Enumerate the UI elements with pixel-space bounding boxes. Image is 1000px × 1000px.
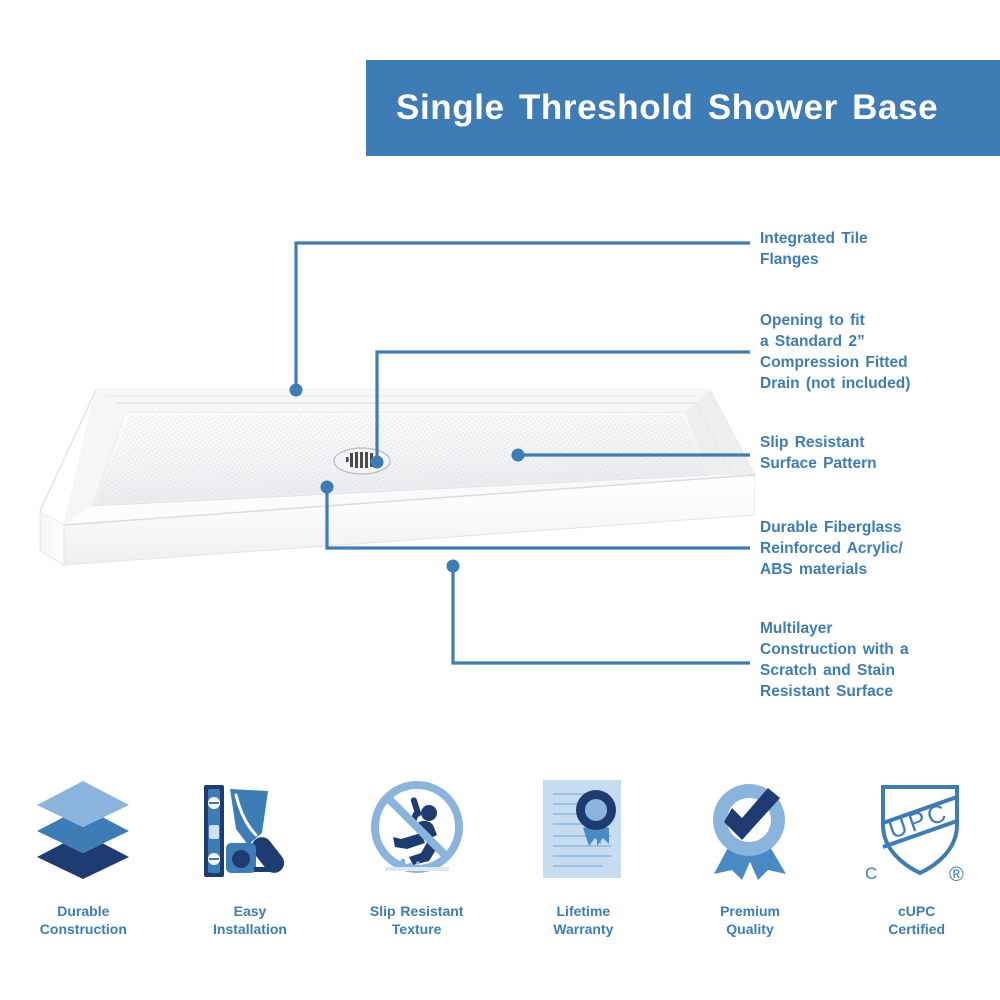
shower-base-svg [10, 365, 755, 595]
feature-label-premium-quality: Premium Quality [720, 902, 780, 938]
feature-durable-construction: Durable Construction [0, 770, 167, 970]
feature-slip-resistant-texture: Slip Resistant Texture [333, 770, 500, 970]
feature-badges-row: Durable Construction [0, 770, 1000, 970]
tile-flange-back-wall [96, 390, 710, 412]
tape-measure-spool [232, 850, 250, 868]
stacked-layers-icon [31, 770, 135, 888]
callout-integrated-tile-flanges: Integrated Tile Flanges [760, 228, 868, 270]
feature-cupc-certified: UPC C ® cUPC Certified [833, 770, 1000, 970]
shield-prefix-c: C [865, 864, 877, 883]
feature-label-slip-resistant-texture: Slip Resistant Texture [370, 902, 464, 938]
callout-multilayer-construction: Multilayer Construction with a Scratch a… [760, 618, 909, 702]
wet-floor-line [385, 867, 449, 871]
shield-letters: UPC [885, 798, 953, 845]
level-vial-bottom-line [209, 858, 219, 860]
feature-premium-quality: Premium Quality [667, 770, 834, 970]
seal-inner [585, 799, 607, 821]
page-title: Single Threshold Shower Base [396, 88, 938, 128]
no-slip-icon [363, 770, 471, 888]
feature-label-easy-installation: Easy Installation [213, 902, 287, 938]
person-head [421, 805, 437, 821]
registered-mark-icon: ® [949, 864, 964, 885]
feature-label-durable-construction: Durable Construction [40, 902, 127, 938]
callout-drain-opening: Opening to fit a Standard 2” Compression… [760, 310, 910, 394]
tape-measure-blade [254, 867, 278, 872]
callout-durable-materials: Durable Fiberglass Reinforced Acrylic/ A… [760, 517, 903, 580]
feature-lifetime-warranty: Lifetime Warranty [500, 770, 667, 970]
infographic-page: Single Threshold Shower Base [0, 0, 1000, 1000]
level-trowel-tape-icon [196, 770, 304, 888]
drain-grate-bars [346, 452, 378, 468]
level-vial-top-line [209, 802, 219, 804]
feature-label-cupc-certified: cUPC Certified [888, 902, 945, 938]
layer-top [37, 781, 129, 827]
title-banner: Single Threshold Shower Base [366, 60, 1000, 156]
level-vial-middle [209, 825, 219, 839]
shower-base-illustration [10, 365, 755, 595]
rosette-check-icon [698, 770, 802, 888]
feature-easy-installation: Easy Installation [167, 770, 334, 970]
drain-opening-icon [334, 448, 390, 474]
callout-slip-resistant-surface: Slip Resistant Surface Pattern [760, 432, 877, 474]
certificate-icon [533, 770, 633, 888]
upc-shield-icon: UPC C ® [861, 770, 973, 888]
feature-label-lifetime-warranty: Lifetime Warranty [553, 902, 613, 938]
